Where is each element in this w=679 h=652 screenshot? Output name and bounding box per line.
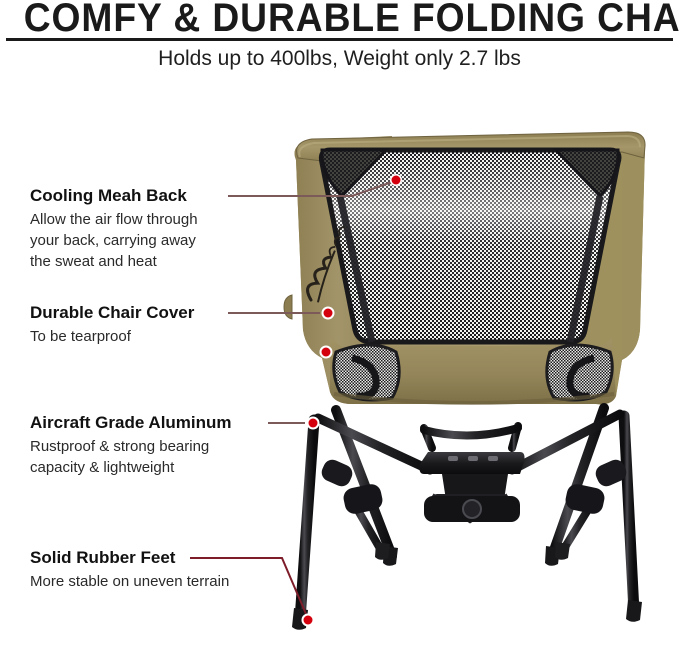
foot-front-right	[626, 600, 642, 622]
callout-body: Allow the air flow through your back, ca…	[30, 209, 198, 272]
clamp-knob	[463, 500, 481, 518]
callout-cooling-mesh-back: Cooling Meah Back Allow the air flow thr…	[30, 186, 198, 272]
cooling-mesh-back-panel	[320, 150, 620, 350]
callout-body: Rustproof & strong bearing capacity & li…	[30, 436, 232, 478]
strut-seat-cross	[424, 428, 518, 436]
hub-plate	[420, 452, 525, 474]
callout-heading: Aircraft Grade Aluminum	[30, 413, 232, 433]
leg-front-right	[624, 416, 634, 612]
leg-front-left	[300, 420, 314, 620]
callout-body: To be tearproof	[30, 326, 194, 347]
side-tab	[284, 295, 292, 319]
callout-heading: Durable Chair Cover	[30, 303, 194, 323]
hub-rivet-1	[448, 456, 458, 461]
callout-heading: Cooling Meah Back	[30, 186, 198, 206]
hub-rivet-3	[488, 456, 498, 461]
foot-inner-right	[555, 542, 570, 560]
chair-seat-front	[330, 338, 616, 404]
infographic-page: COMFY & DURABLE FOLDING CHAIR Holds up t…	[0, 0, 679, 652]
callout-heading: Solid Rubber Feet	[30, 548, 229, 568]
callout-aircraft-grade-aluminum: Aircraft Grade Aluminum Rustproof & stro…	[30, 413, 232, 478]
callout-body: More stable on uneven terrain	[30, 571, 229, 592]
foot-inner-left	[375, 542, 390, 560]
hub-rivet-2	[468, 456, 478, 461]
joint-collar-upper-left	[319, 457, 355, 489]
foot-front-left	[292, 608, 308, 630]
strut-upper-right	[512, 414, 620, 470]
callout-durable-chair-cover: Durable Chair Cover To be tearproof	[30, 303, 194, 347]
rubber-feet	[292, 542, 642, 630]
callout-solid-rubber-feet: Solid Rubber Feet More stable on uneven …	[30, 548, 229, 592]
